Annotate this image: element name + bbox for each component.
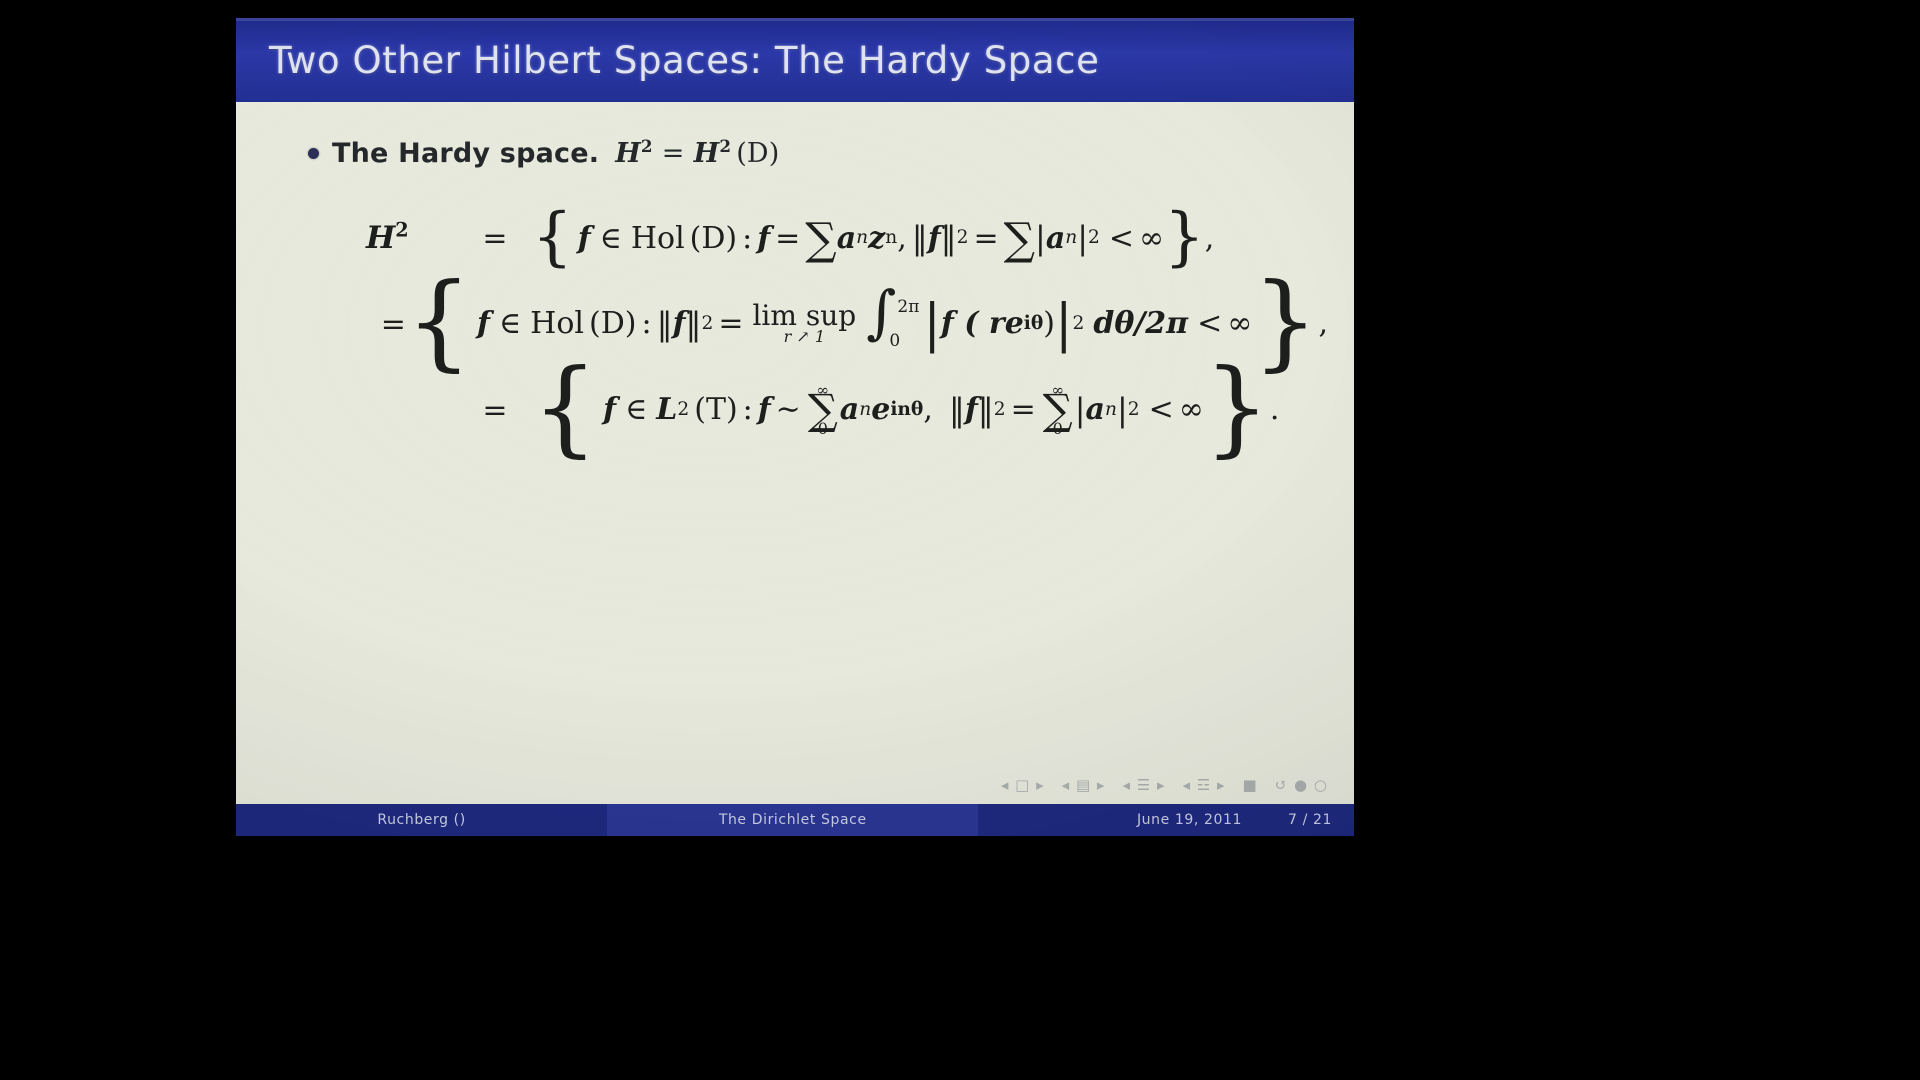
equation-2-norm-close: ‖ — [685, 305, 701, 343]
equation-2-integral: ∫ 2π 0 — [866, 297, 919, 351]
nav-section-icon[interactable]: ◂ ☲ ▸ — [1182, 776, 1225, 794]
equation-3-open-brace: { — [532, 365, 598, 450]
equation-1-variable: z — [868, 221, 885, 256]
nav-slide-icon[interactable]: ◂ □ ▸ — [1001, 776, 1045, 794]
equation-2-norm-open: ‖ — [657, 305, 673, 343]
equation-3-coefficient: a — [840, 392, 859, 427]
bullet-dot-icon — [308, 148, 319, 159]
equation-1-space-name: Hol — [631, 221, 685, 256]
equation-1-norm-close: ‖ — [941, 219, 957, 257]
equation-2-infinity: ∞ — [1227, 306, 1252, 341]
equation-2-open-brace: { — [406, 279, 472, 364]
bullet-h-exponent-2: 2 — [719, 136, 731, 156]
equation-3-terminator: . — [1270, 392, 1280, 427]
equation-2-abs-open: | — [923, 309, 941, 340]
equation-1-abs-close: | — [1077, 219, 1088, 257]
equation-1-summation-icon: ∑ — [805, 225, 836, 256]
equation-3-norm-open: ‖ — [949, 391, 965, 429]
equation-2-norm-symbol: f — [673, 306, 686, 341]
equation-row-3: = { f ∈ L2 (T) : f ∼ ∞ ∑ 0 — [366, 367, 1328, 453]
equation-1-close-brace: } — [1164, 211, 1205, 263]
equation-3-exponential: e — [871, 392, 890, 427]
equation-1-abs-symbol: a — [1046, 221, 1065, 256]
equation-3-abs-open: | — [1075, 391, 1086, 429]
nav-back-forward-icon[interactable]: ↺ ● ○ — [1275, 776, 1328, 794]
bullet-h-symbol: H — [615, 138, 641, 169]
footer-right: June 19, 2011 7 / 21 — [978, 804, 1354, 836]
equation-1-comma: , — [897, 221, 907, 256]
bullet-domain: (D) — [736, 138, 779, 169]
equation-2-integrand: f ( re — [941, 306, 1024, 341]
bullet-equals: = — [662, 138, 685, 169]
footer-page-number: 7 / 21 — [1288, 812, 1332, 828]
equation-2-relation: = — [381, 307, 406, 342]
equation-3-in-symbol: ∈ — [625, 392, 647, 427]
equation-1-relation: = — [458, 221, 532, 256]
equation-3-member: f — [603, 392, 616, 427]
equation-row-2: = { f ∈ Hol (D) : ‖f‖2 = lim sup r ↗ 1 — [366, 281, 1328, 367]
equation-1-series-var: f — [757, 221, 770, 256]
equation-1-space-arg: (D) — [690, 221, 737, 256]
bullet-h-symbol-2: H — [694, 138, 720, 169]
footer-short-title: The Dirichlet Space — [607, 804, 978, 836]
nav-frame-icon[interactable]: ◂ ▤ ▸ — [1062, 776, 1106, 794]
equation-1-in-symbol: ∈ — [600, 221, 622, 256]
equation-3-summation: ∞ ∑ 0 — [808, 383, 838, 437]
equation-1-infinity: ∞ — [1139, 221, 1164, 256]
equation-3-less-than: < — [1149, 392, 1174, 427]
equation-2-terminator: , — [1318, 306, 1328, 341]
equation-2-norm-equals: = — [718, 306, 743, 341]
equation-3-rhs: { f ∈ L2 (T) : f ∼ ∞ ∑ 0 aneinθ, — [532, 367, 1279, 452]
title-bar-highlight — [236, 18, 1354, 21]
equation-2-limsup-label: lim sup — [752, 302, 856, 330]
equation-1-norm-open: ‖ — [912, 219, 928, 257]
equation-2-measure: dθ/2π — [1093, 306, 1188, 341]
nav-doc-icon[interactable]: ■ — [1243, 776, 1258, 794]
equation-2-limsup: lim sup r ↗ 1 — [752, 302, 856, 345]
screen: Two Other Hilbert Spaces: The Hardy Spac… — [0, 0, 1920, 1080]
equation-1-summation-icon-2: ∑ — [1004, 225, 1035, 256]
equation-row-1: H2 = { f ∈ Hol (D) : f = ∑ anzn, ‖f‖2 — [366, 195, 1328, 281]
equation-2-integral-upper: 2π — [897, 297, 919, 317]
footer-author: Ruchberg () — [236, 804, 607, 836]
equation-2-limsup-subscript: r ↗ 1 — [784, 329, 825, 345]
footer-date: June 19, 2011 — [1137, 812, 1242, 828]
slide-body: The Hardy space.H2=H2(D) H2 = { f ∈ Hol … — [236, 102, 1354, 804]
bullet-h-exponent: 2 — [641, 136, 653, 156]
equation-3-sim: ∼ — [776, 392, 801, 427]
equation-2-space-name: Hol — [530, 306, 584, 341]
bullet-content: The Hardy space.H2=H2(D) — [332, 138, 780, 169]
slide-footer: Ruchberg () The Dirichlet Space June 19,… — [236, 804, 1354, 836]
equation-2-less-than: < — [1197, 306, 1222, 341]
presentation-slide: Two Other Hilbert Spaces: The Hardy Spac… — [236, 18, 1354, 836]
beamer-navigation-bar[interactable]: ◂ □ ▸ ◂ ▤ ▸ ◂ ☰ ▸ ◂ ☲ ▸ ■ ↺ ● ○ — [1001, 776, 1328, 794]
equation-3-colon: : — [743, 392, 753, 427]
equation-1-coefficient: a — [837, 221, 856, 256]
integral-icon: ∫ — [866, 295, 896, 331]
equation-3-space-name: L — [656, 392, 677, 427]
equation-3-space-arg: (T) — [694, 392, 737, 427]
equation-1-lhs: H2 — [366, 220, 458, 256]
equation-3-abs-symbol: a — [1086, 392, 1105, 427]
equation-3-norm-equals: = — [1011, 392, 1036, 427]
nav-subsection-icon[interactable]: ◂ ☰ ▸ — [1122, 776, 1165, 794]
equation-3-norm-symbol: f — [965, 392, 978, 427]
equation-1-terminator: , — [1205, 221, 1215, 256]
equation-3-relation: = — [458, 393, 532, 428]
equation-2-in-symbol: ∈ — [499, 306, 521, 341]
bullet-lead-text: The Hardy space. — [332, 138, 599, 169]
equation-3-sum2-lower: 0 — [1053, 421, 1063, 437]
equation-2-colon: : — [641, 306, 651, 341]
equation-3-comma: , — [923, 392, 933, 427]
equation-2-integrand-close: ) — [1043, 306, 1055, 341]
equation-2-abs-close: | — [1055, 309, 1073, 340]
equation-1-rhs: { f ∈ Hol (D) : f = ∑ anzn, ‖f‖2 = ∑ |an… — [532, 212, 1214, 264]
equation-block: H2 = { f ∈ Hol (D) : f = ∑ anzn, ‖f‖2 — [366, 195, 1328, 453]
equation-3-abs-close: | — [1117, 391, 1128, 429]
equation-2-space-arg: (D) — [589, 306, 636, 341]
equation-1-series-equals: = — [775, 221, 800, 256]
slide-title-bar: Two Other Hilbert Spaces: The Hardy Spac… — [236, 18, 1354, 102]
equation-1-abs-open: | — [1035, 219, 1046, 257]
equation-1-open-brace: { — [532, 211, 573, 263]
slide-title: Two Other Hilbert Spaces: The Hardy Spac… — [269, 39, 1099, 82]
equation-1-norm-symbol: f — [928, 221, 941, 256]
equation-3-close-brace: } — [1204, 365, 1270, 450]
equation-2-integral-lower: 0 — [889, 331, 900, 351]
equation-3-infinity: ∞ — [1179, 392, 1204, 427]
equation-2-member: f — [477, 306, 490, 341]
equation-1-colon: : — [742, 221, 752, 256]
equation-3-sum-lower: 0 — [818, 421, 828, 437]
equation-1-less-than: < — [1109, 221, 1134, 256]
bullet-item: The Hardy space.H2=H2(D) — [308, 138, 1328, 169]
equation-3-norm-close: ‖ — [978, 391, 994, 429]
equation-3-series-var: f — [758, 392, 771, 427]
equation-3-summation-2: ∞ ∑ 0 — [1043, 383, 1073, 437]
equation-1-norm-equals: = — [973, 221, 998, 256]
equation-1-member: f — [578, 221, 591, 256]
